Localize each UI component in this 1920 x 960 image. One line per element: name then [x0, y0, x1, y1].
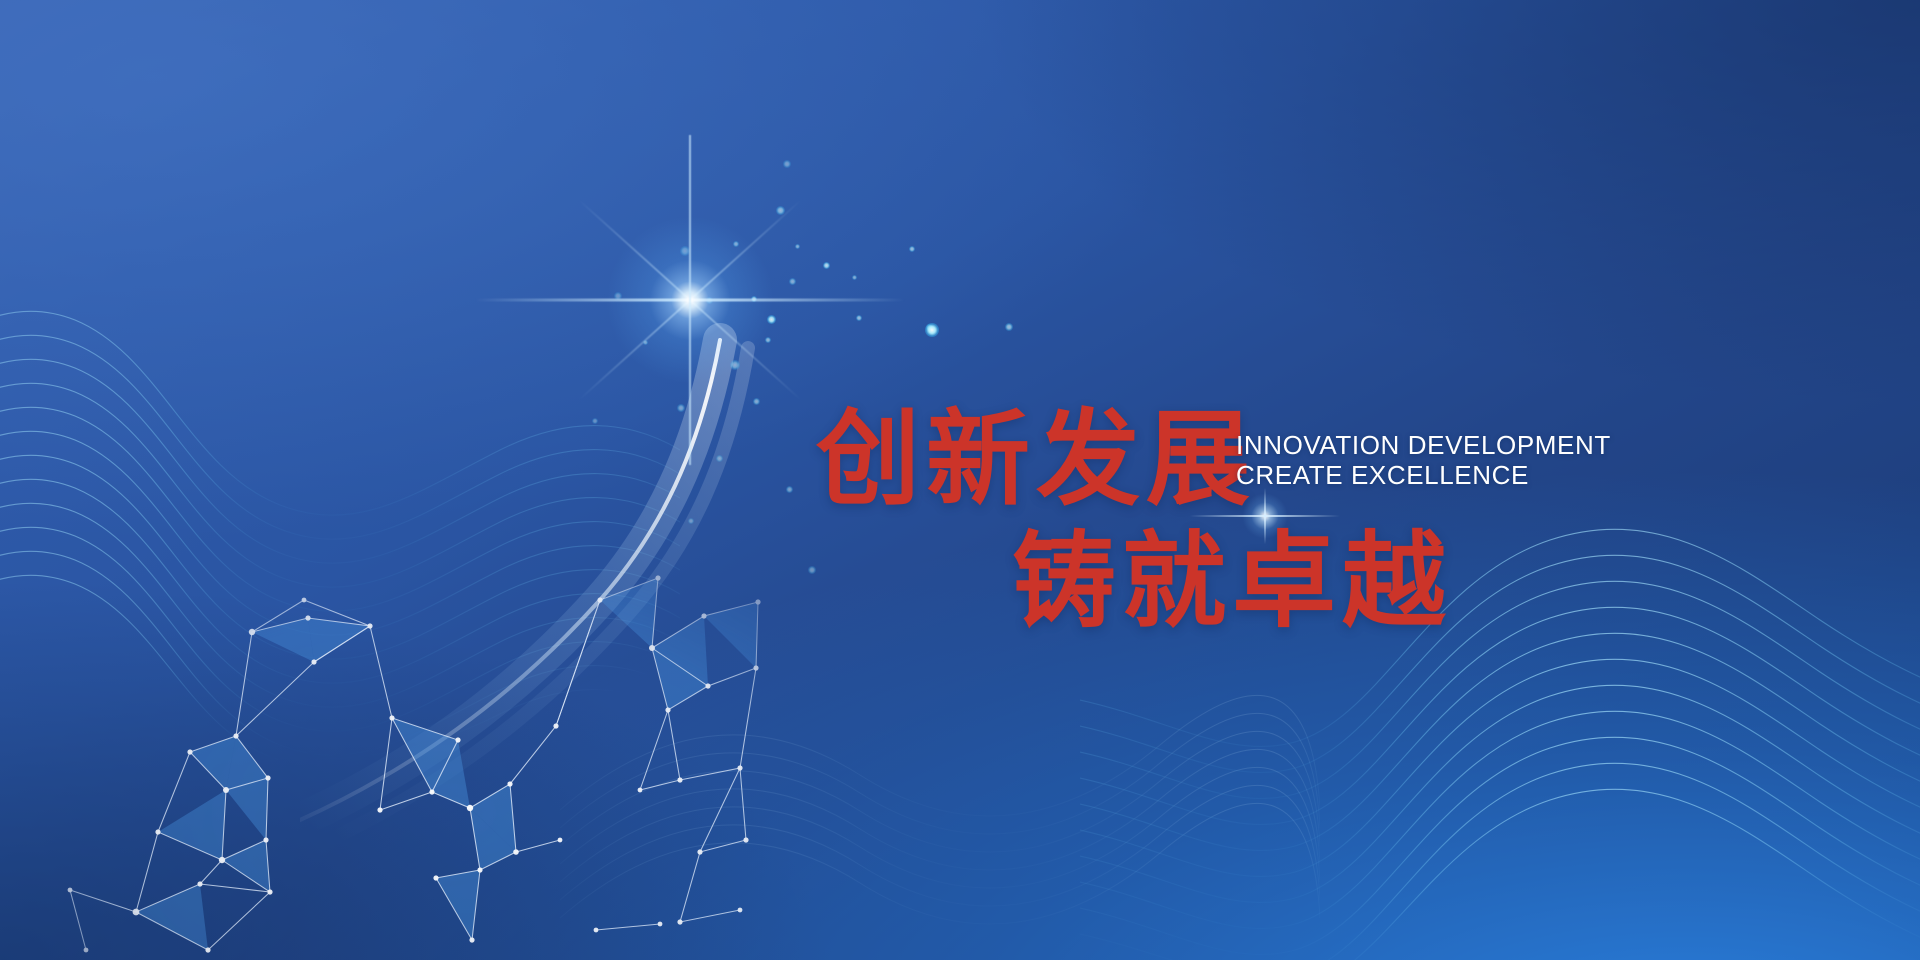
- subheadline-english-block: INNOVATION DEVELOPMENT CREATE EXCELLENCE: [1236, 430, 1611, 491]
- headline-chinese-line-2: 铸就卓越: [1012, 530, 1452, 634]
- headline-block: 创新发展 铸就卓越 INNOVATION DEVELOPMENT CREATE …: [0, 0, 1920, 960]
- subheadline-english-line-2: CREATE EXCELLENCE: [1236, 460, 1611, 490]
- subheadline-english-line-1: INNOVATION DEVELOPMENT: [1236, 430, 1611, 460]
- banner-canvas: 创新发展 铸就卓越 INNOVATION DEVELOPMENT CREATE …: [0, 0, 1920, 960]
- headline-chinese-line-1: 创新发展: [816, 408, 1256, 512]
